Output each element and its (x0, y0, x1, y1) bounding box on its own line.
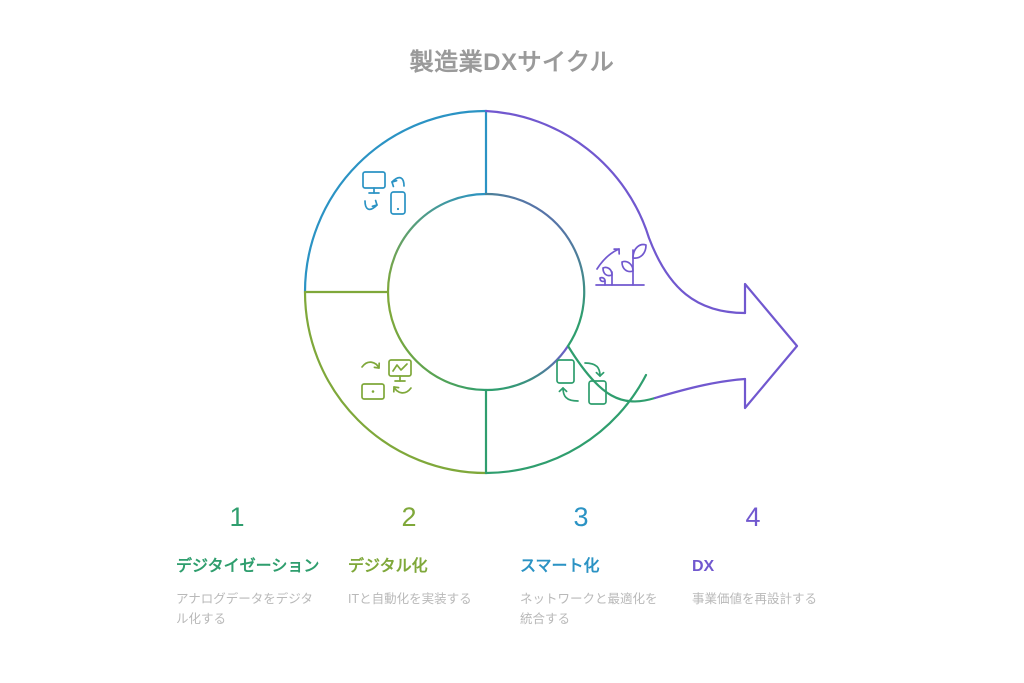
legend-number-4: 4 (692, 500, 814, 534)
devices-sync-icon (363, 172, 405, 214)
legend-desc-3: ネットワークと最適化を統合する (520, 589, 668, 629)
segment-digitization[interactable] (305, 111, 486, 292)
segment-smart[interactable] (486, 346, 646, 473)
growth-sprout-icon (596, 245, 646, 285)
segment-digitalization[interactable] (305, 292, 486, 473)
legend: 1 デジタイゼーション アナログデータをデジタル化する 2 デジタル化 ITと自… (176, 500, 876, 629)
segment-dx-arrow[interactable] (486, 111, 797, 408)
legend-item-3[interactable]: 3 スマート化 ネットワークと最適化を統合する (520, 500, 692, 629)
analytics-automation-icon (362, 360, 411, 399)
legend-item-1[interactable]: 1 デジタイゼーション アナログデータをデジタル化する (176, 500, 348, 629)
legend-desc-1: アナログデータをデジタル化する (176, 589, 324, 629)
legend-item-4[interactable]: 4 DX 事業価値を再設計する (692, 500, 864, 629)
legend-number-3: 3 (520, 500, 642, 534)
legend-label-3: スマート化 (520, 554, 668, 579)
legend-label-4: DX (692, 554, 840, 579)
legend-number-1: 1 (176, 500, 298, 534)
infographic-canvas: 製造業DXサイクル (0, 0, 1024, 683)
legend-number-2: 2 (348, 500, 470, 534)
legend-desc-4: 事業価値を再設計する (692, 589, 840, 609)
legend-label-1: デジタイゼーション (176, 554, 324, 579)
network-exchange-icon (557, 360, 606, 404)
legend-label-2: デジタル化 (348, 554, 496, 579)
legend-item-2[interactable]: 2 デジタル化 ITと自動化を実装する (348, 500, 520, 629)
page-title: 製造業DXサイクル (0, 42, 1024, 77)
legend-desc-2: ITと自動化を実装する (348, 589, 496, 609)
